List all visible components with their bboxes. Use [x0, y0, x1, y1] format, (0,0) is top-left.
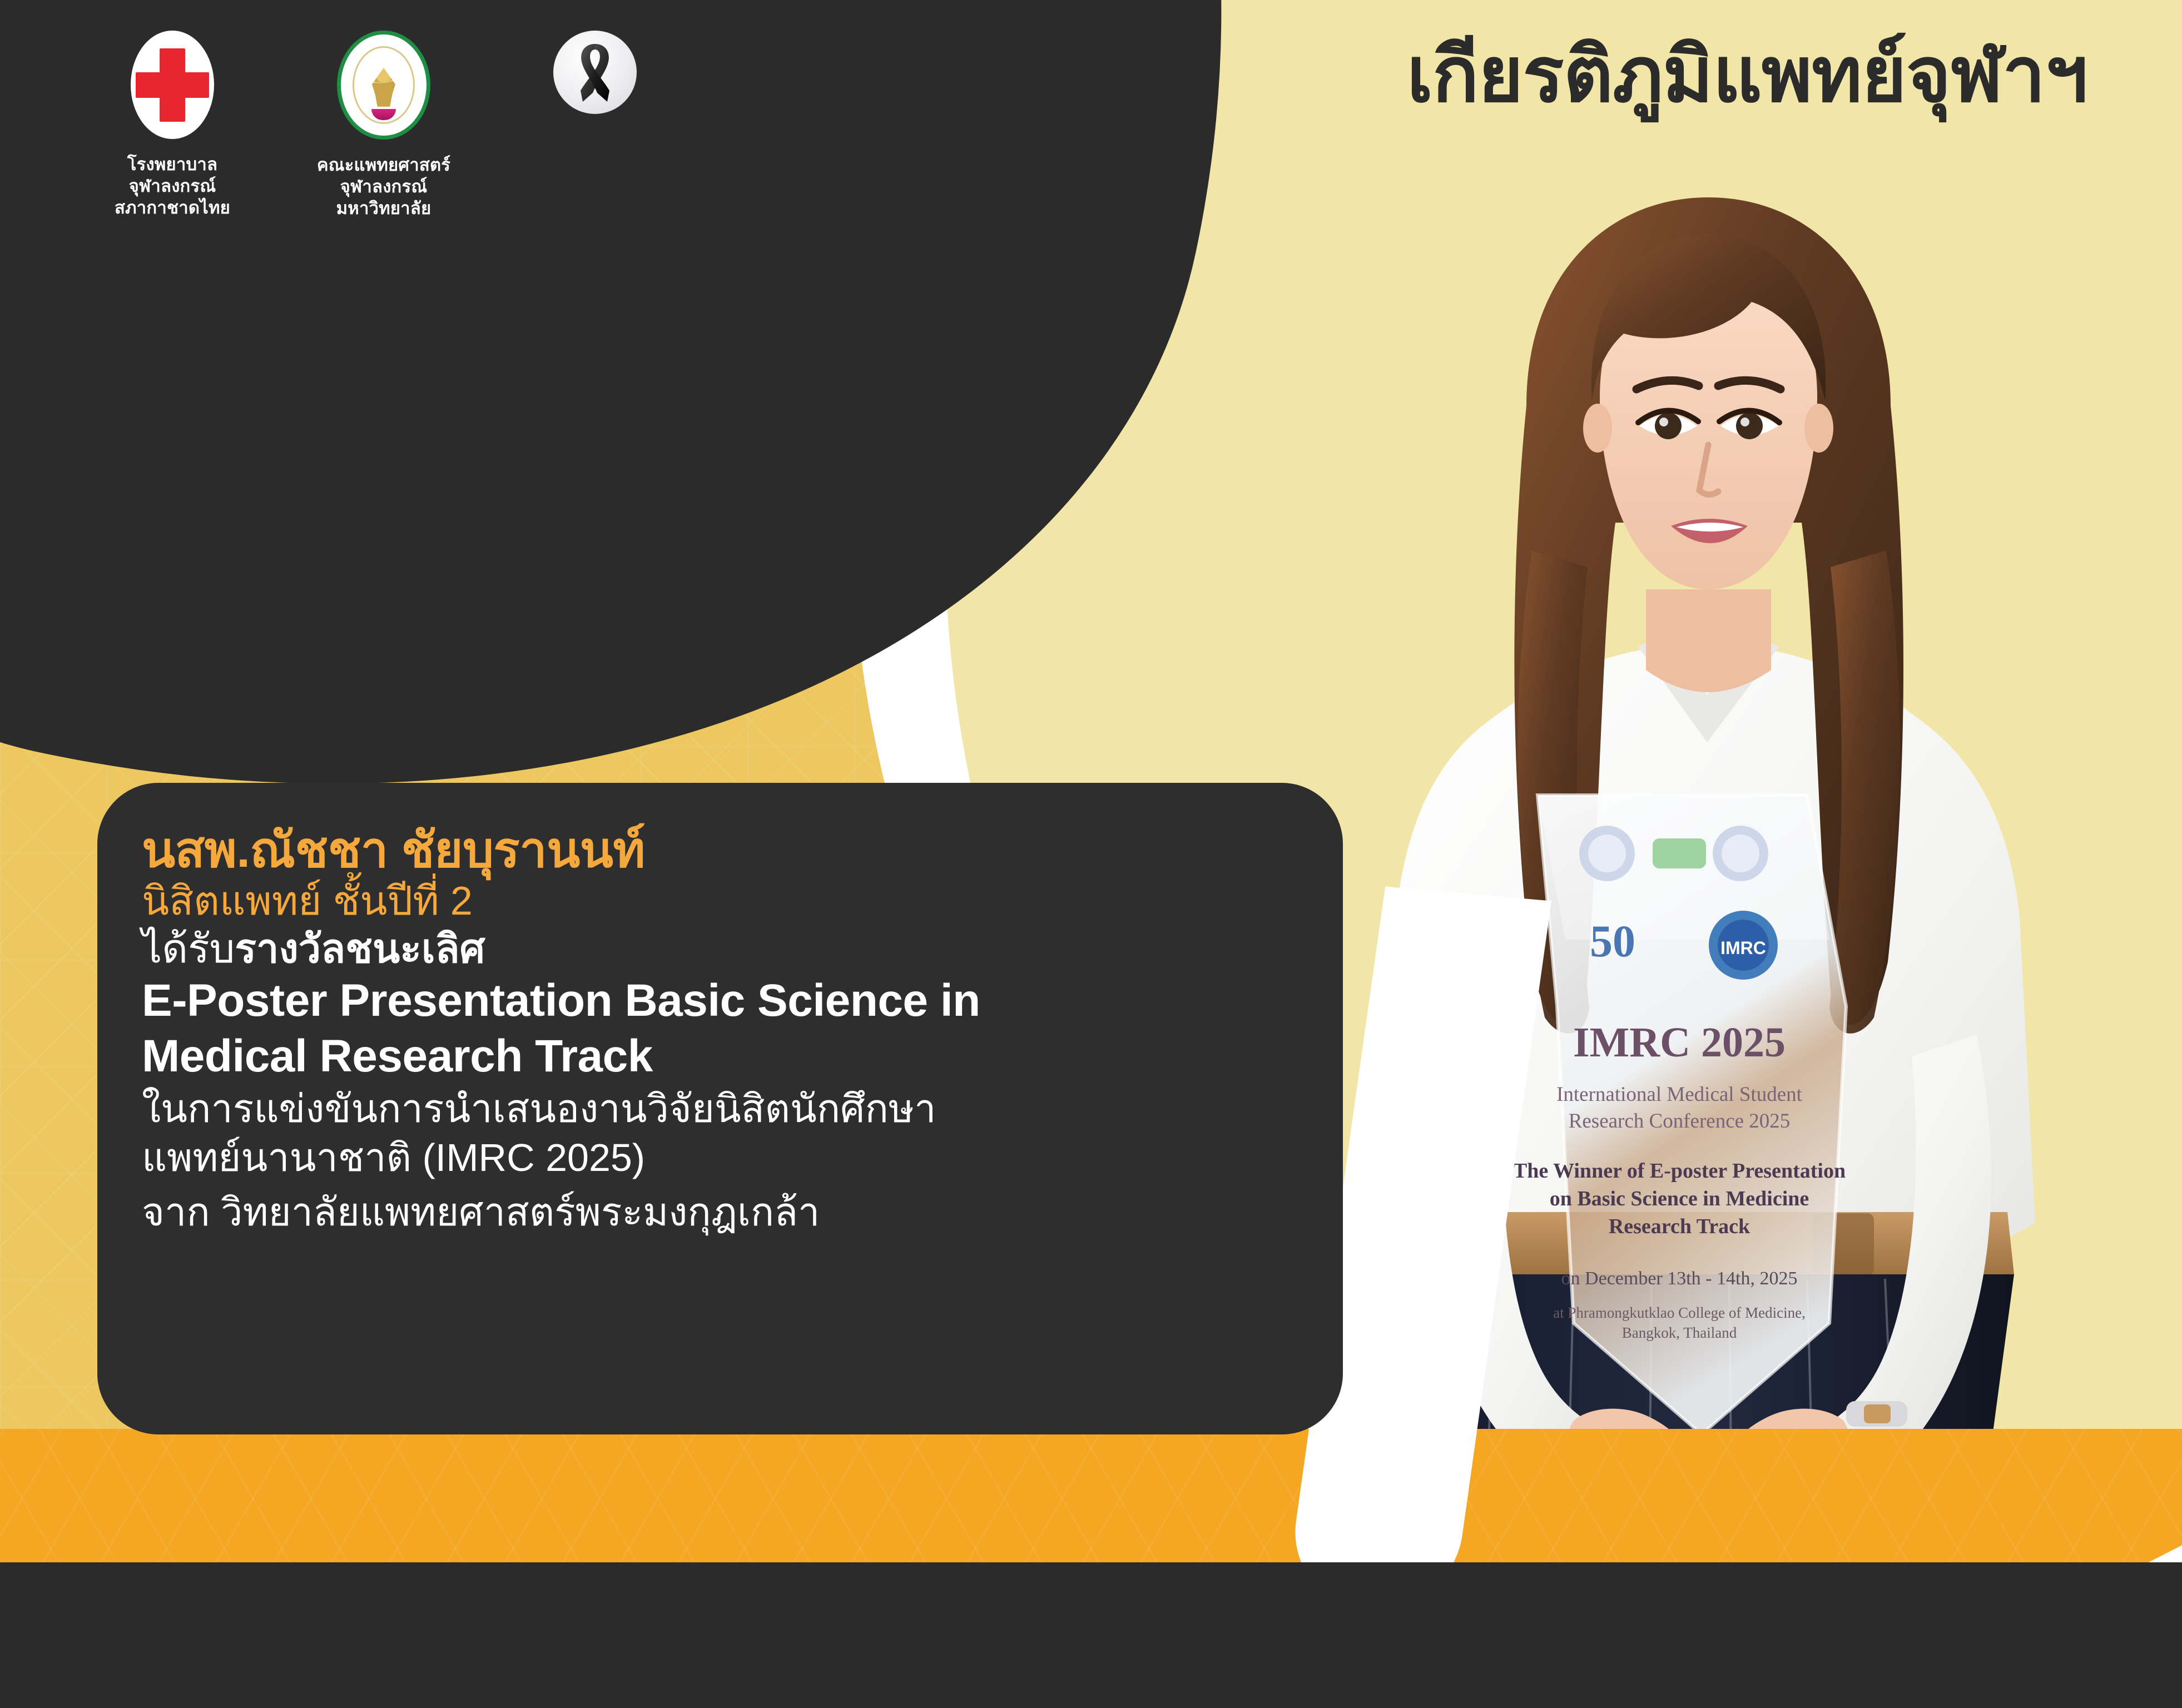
svg-text:on Basic Science in Medicine: on Basic Science in Medicine: [1550, 1187, 1809, 1210]
svg-text:50: 50: [1590, 916, 1635, 966]
from-line: จาก วิทยาลัยแพทยศาสตร์พระมงกุฎเกล้า: [142, 1188, 1310, 1237]
track-line-2: Medical Research Track: [142, 1029, 1310, 1084]
context-line-1: ในการแข่งขันการนำเสนองานวิจัยนิสิตนักศึก…: [142, 1084, 1310, 1133]
logo-block-faculty: คณะแพทยศาสตร์ จุฬาลงกรณ์มหาวิทยาลัย: [300, 31, 467, 219]
track-line-1: E-Poster Presentation Basic Science in: [142, 973, 1310, 1029]
svg-text:Research Track: Research Track: [1609, 1215, 1750, 1238]
organization-logos: โรงพยาบาลจุฬาลงกรณ์ สภากาชาดไทย คณะแพทยศ…: [89, 31, 678, 219]
award-info-card: นสพ.ณัชชา ชัยบุรานนท์ นิสิตแพทย์ ชั้นปีท…: [97, 783, 1343, 1434]
award-prefix: ได้รับ: [142, 927, 235, 971]
chula-faculty-of-medicine-seal: [337, 31, 430, 140]
logo-caption-line1: โรงพยาบาลจุฬาลงกรณ์: [89, 153, 256, 197]
logo-caption-line2: จุฬาลงกรณ์มหาวิทยาลัย: [300, 176, 467, 219]
student-name: นสพ.ณัชชา ชัยบุรานนท์: [142, 823, 1310, 878]
black-mourning-ribbon-icon: [553, 31, 637, 114]
context-line-2: แพทย์นานาชาติ (IMRC 2025): [142, 1133, 1310, 1182]
svg-text:The Winner of E-poster Present: The Winner of E-poster Presentation: [1513, 1159, 1846, 1183]
svg-text:at Phramongkutklao College of: at Phramongkutklao College of Medicine,: [1553, 1304, 1806, 1321]
svg-text:IMRC: IMRC: [1720, 938, 1766, 958]
logo-caption-line1: คณะแพทยศาสตร์: [300, 154, 467, 176]
gold-bottom-band: [0, 1429, 2182, 1562]
student-year: นิสิตแพทย์ ชั้นปีที่ 2: [142, 878, 1310, 925]
svg-text:Bangkok, Thailand: Bangkok, Thailand: [1622, 1324, 1737, 1341]
svg-text:on December 13th - 14th, 2025: on December 13th - 14th, 2025: [1561, 1268, 1798, 1289]
logo-caption-line2: สภากาชาดไทย: [89, 197, 256, 219]
logo-caption-hospital: โรงพยาบาลจุฬาลงกรณ์ สภากาชาดไทย: [89, 153, 256, 219]
page-title: เกียรติภูมิแพทย์จุฬาฯ: [1407, 33, 2087, 118]
logo-block-hospital: โรงพยาบาลจุฬาลงกรณ์ สภากาชาดไทย: [89, 31, 256, 219]
red-cross-icon: [131, 31, 214, 139]
svg-text:Research Conference 2025: Research Conference 2025: [1569, 1110, 1791, 1133]
svg-text:IMRC 2025: IMRC 2025: [1573, 1019, 1786, 1066]
award-name: รางวัลชนะเลิศ: [235, 927, 485, 971]
logo-block-mourning: [512, 31, 678, 114]
logo-caption-faculty: คณะแพทยศาสตร์ จุฬาลงกรณ์มหาวิทยาลัย: [300, 154, 467, 219]
dark-bottom-band: [0, 1562, 2182, 1708]
award-announcement-poster: 50 IMRC IMRC 2025 International Medical …: [0, 0, 2182, 1708]
award-line: ได้รับรางวัลชนะเลิศ: [142, 925, 1310, 973]
svg-text:International Medical Student: International Medical Student: [1556, 1083, 1803, 1106]
